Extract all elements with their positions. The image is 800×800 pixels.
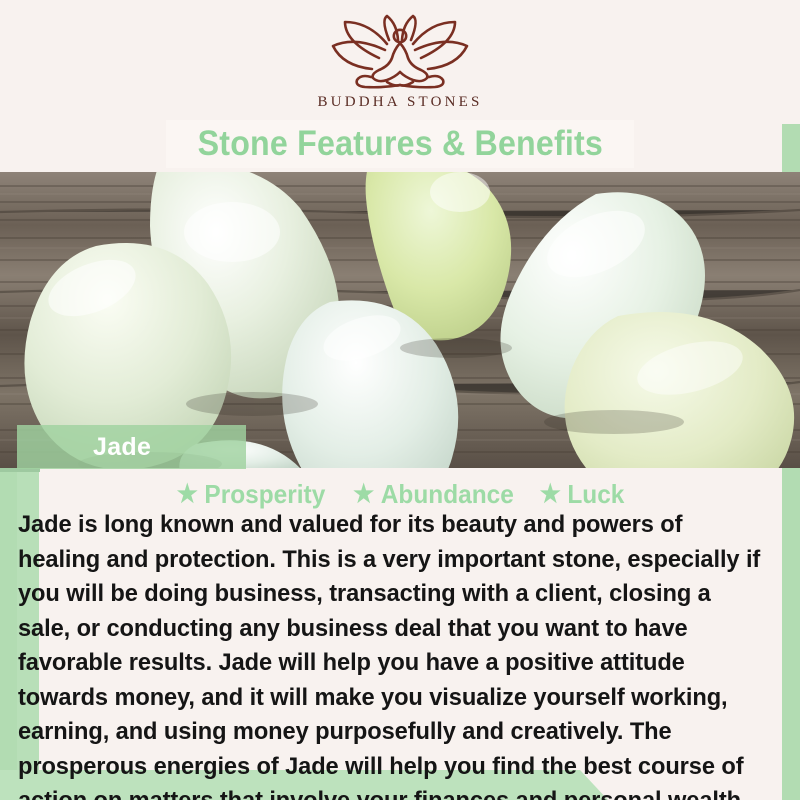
stone-description: Jade is long known and valued for its be…: [18, 508, 761, 800]
brand-name: BUDDHA STONES: [317, 94, 482, 111]
benefit-label: Abundance: [381, 479, 514, 510]
benefits-row: ★ Prosperity ★ Abundance ★ Luck: [0, 478, 800, 510]
benefit-item: ★ Abundance: [354, 479, 515, 510]
star-icon: ★: [540, 482, 561, 507]
stone-name-label: Jade: [93, 433, 151, 462]
stone-info-card: BUDDHA STONES Stone Features & Benefits …: [0, 0, 800, 800]
benefit-label: Prosperity: [205, 479, 326, 510]
description-text: Jade is long known and valued for its be…: [18, 508, 761, 800]
stone-name-tag: Jade: [17, 425, 246, 469]
page-title: Stone Features & Benefits: [197, 124, 602, 164]
benefit-label: Luck: [568, 479, 625, 510]
benefit-item: ★ Prosperity: [177, 479, 326, 510]
brand-logo: BUDDHA STONES: [317, 14, 482, 111]
star-icon: ★: [354, 482, 375, 507]
benefit-item: ★ Luck: [540, 479, 625, 510]
brand-header: BUDDHA STONES: [0, 0, 800, 124]
section-title-banner: Stone Features & Benefits: [166, 120, 634, 168]
jade-stones-photo: [0, 172, 800, 468]
star-icon: ★: [177, 482, 198, 507]
lotus-meditation-icon: [325, 14, 475, 90]
